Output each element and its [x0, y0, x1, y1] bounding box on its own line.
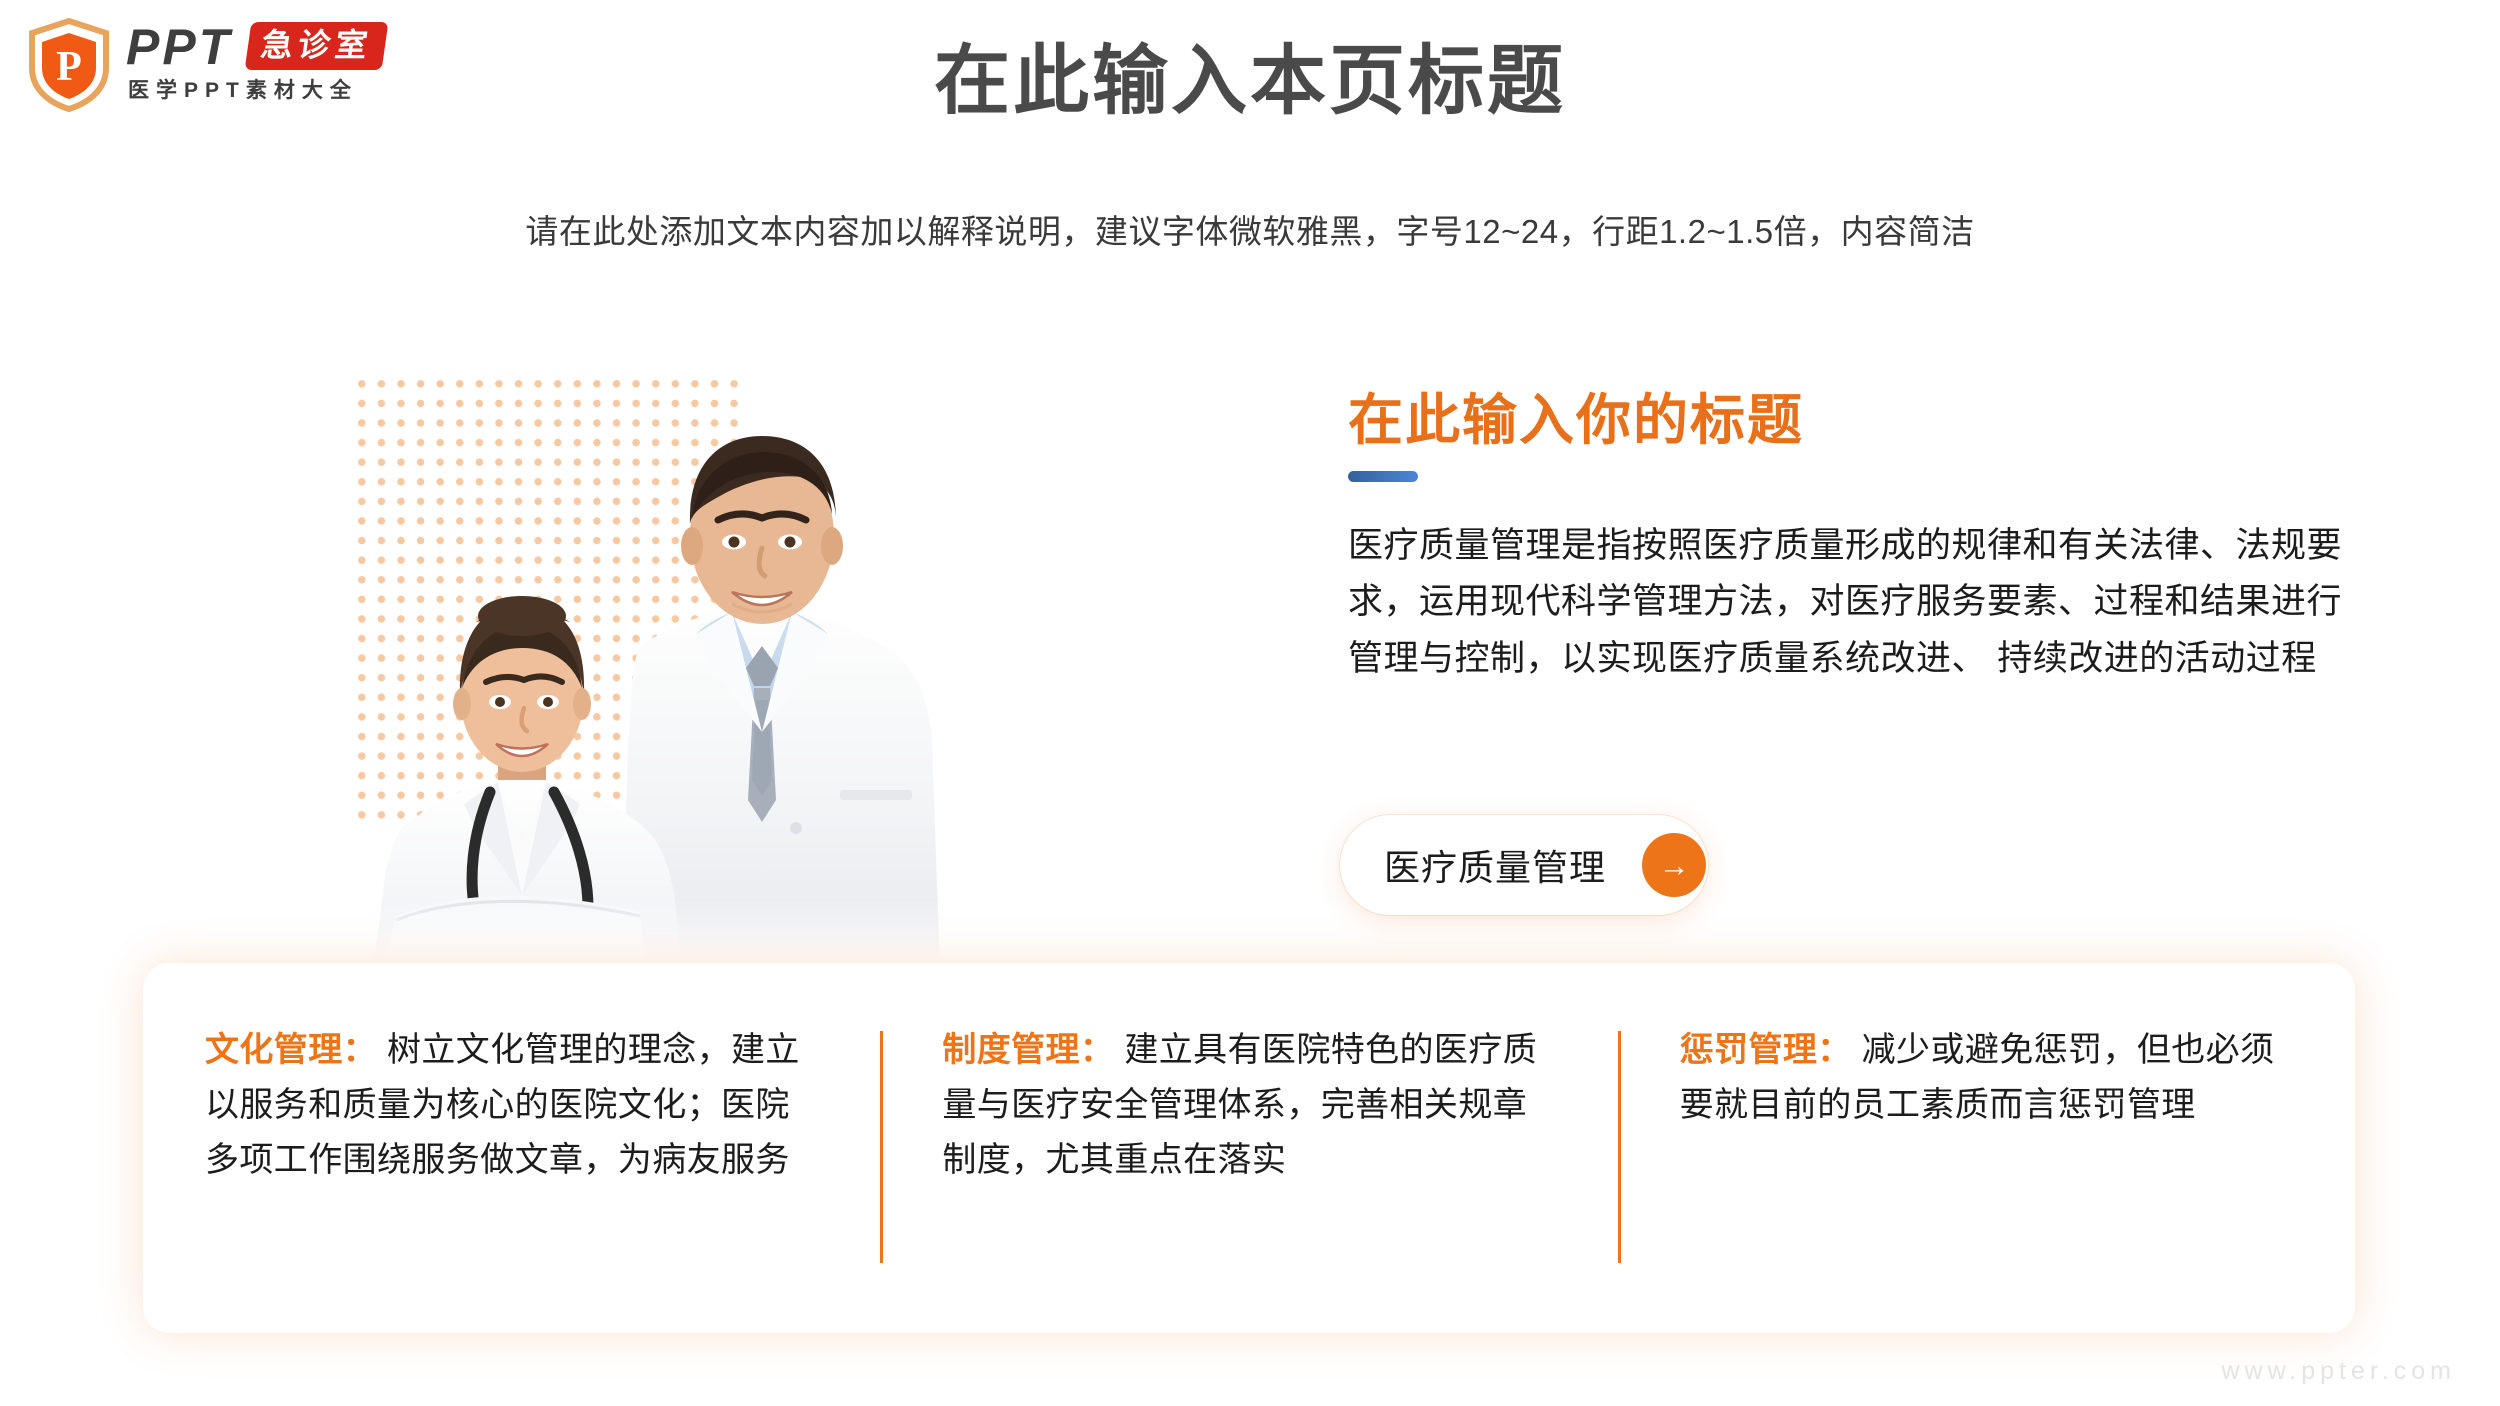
summary-card: 文化管理：树立文化管理的理念，建立以服务和质量为核心的医院文化；医院多项工作围绕… [143, 963, 2355, 1333]
summary-column-penalty: 惩罚管理：减少或避免惩罚，但也必须要就目前的员工素质而言惩罚管理 [1618, 1023, 2355, 1133]
column-label: 惩罚管理： [1680, 1031, 1852, 1069]
page-subtitle: 请在此处添加文本内容加以解释说明，建议字体微软雅黑，字号12~24，行距1.2~… [0, 215, 2500, 248]
column-label: 文化管理： [205, 1031, 377, 1069]
slide-root: P PPT 急诊室 医学PPT素材大全 在此输入本页标题 请在此处添加文本内容加… [0, 0, 2500, 1406]
column-label: 制度管理： [942, 1031, 1114, 1069]
site-watermark: www.ppter.com [2221, 1357, 2456, 1386]
photo-bottom-fade [340, 900, 1080, 970]
section-title: 在此输入你的标题 [1348, 390, 2378, 451]
accent-bar [1348, 471, 1418, 482]
cta-label: 医疗质量管理 [1384, 839, 1606, 891]
column-text: 文化管理：树立文化管理的理念，建立以服务和质量为核心的医院文化；医院多项工作围绕… [205, 1023, 822, 1188]
column-text: 制度管理：建立具有医院特色的医疗质量与医疗安全管理体系，完善相关规章制度，尤其重… [942, 1023, 1559, 1188]
summary-column-system: 制度管理：建立具有医院特色的医疗质量与医疗安全管理体系，完善相关规章制度，尤其重… [880, 1023, 1617, 1188]
content-block: 在此输入你的标题 医疗质量管理是指按照医疗质量形成的规律和有关法律、法规要求，运… [1348, 390, 2378, 688]
illustration-block [340, 360, 1080, 970]
body-paragraph: 医疗质量管理是指按照医疗质量形成的规律和有关法律、法规要求，运用现代科学管理方法… [1348, 518, 2363, 688]
page-title: 在此输入本页标题 [0, 44, 2500, 120]
column-text: 惩罚管理：减少或避免惩罚，但也必须要就目前的员工素质而言惩罚管理 [1680, 1023, 2297, 1133]
medical-quality-management-button[interactable]: 医疗质量管理 → [1340, 815, 1708, 915]
summary-column-culture: 文化管理：树立文化管理的理念，建立以服务和质量为核心的医院文化；医院多项工作围绕… [143, 1023, 880, 1188]
arrow-right-icon: → [1642, 833, 1706, 897]
doctors-photo [340, 360, 1080, 970]
